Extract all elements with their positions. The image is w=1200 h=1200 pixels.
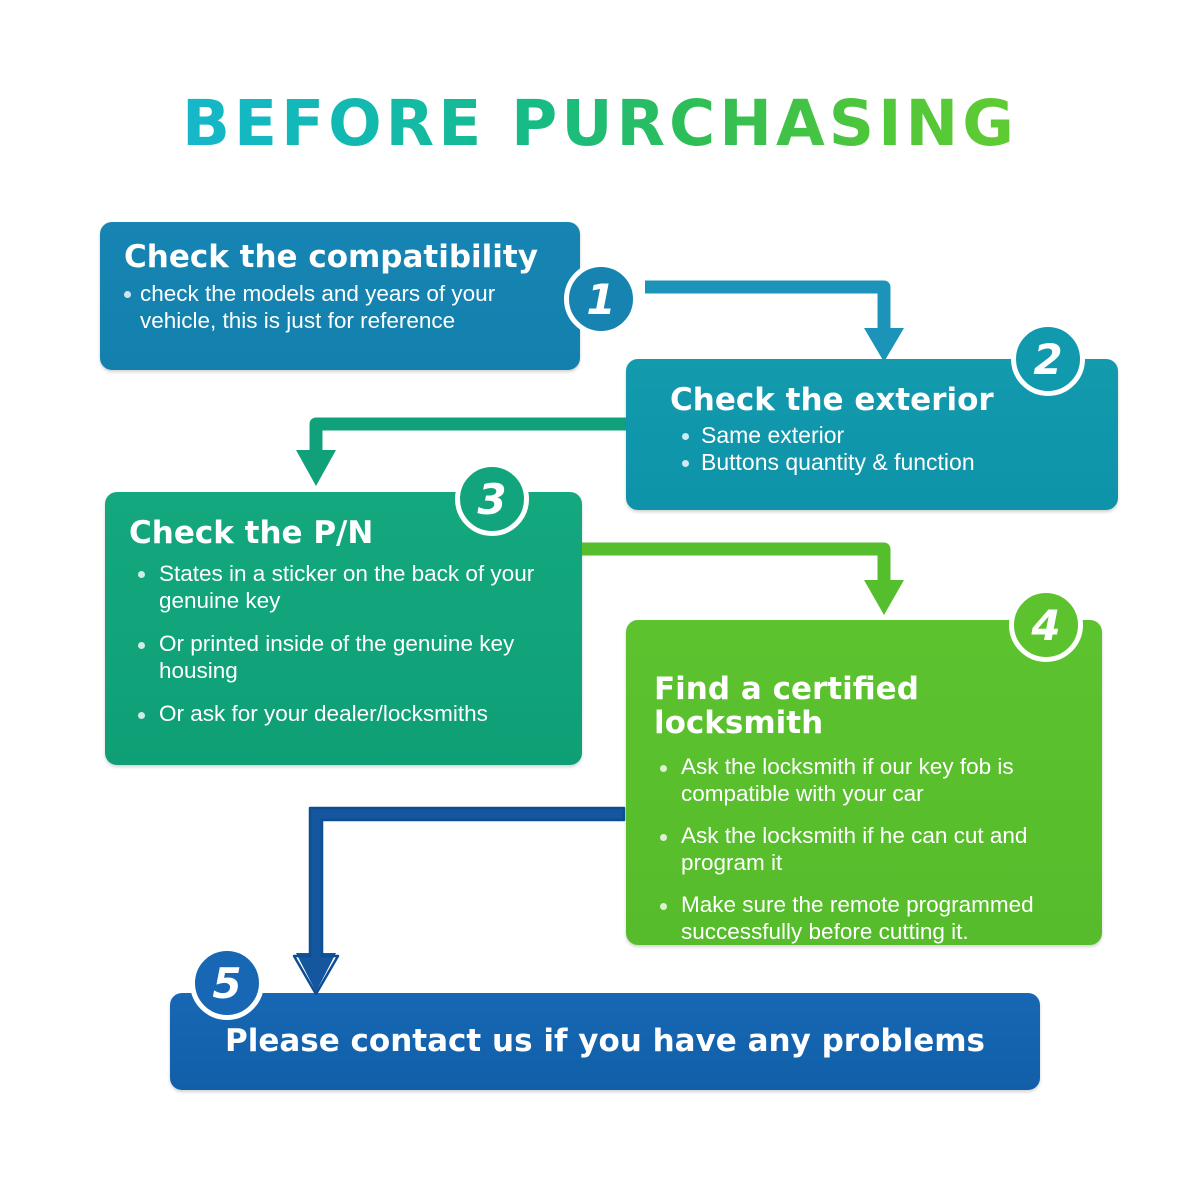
step-4-bullets: Ask the locksmith if our key fob is comp…	[654, 754, 1088, 945]
list-item: States in a sticker on the back of your …	[138, 561, 564, 614]
step-2-bullets: Same exterior Buttons quantity & functio…	[670, 422, 1100, 476]
list-item: Ask the locksmith if he can cut and prog…	[660, 823, 1088, 876]
list-item: check the models and years of your vehic…	[124, 281, 558, 334]
bullet-text: Ask the locksmith if he can cut and prog…	[681, 823, 1027, 875]
bullet-dot-icon	[138, 571, 145, 578]
step-number-badge-3: 3	[455, 462, 529, 536]
bullet-dot-icon	[138, 712, 145, 719]
bullet-dot-icon	[682, 433, 689, 440]
arrow-step1-to-step2	[645, 287, 904, 362]
bullet-text: Or ask for your dealer/locksmiths	[159, 701, 488, 726]
step-box-5[interactable]: Please contact us if you have any proble…	[170, 993, 1040, 1090]
list-item: Or printed inside of the genuine key hou…	[138, 631, 564, 684]
bullet-dot-icon	[660, 834, 667, 841]
step-5-heading: Please contact us if you have any proble…	[225, 1024, 985, 1058]
list-item: Ask the locksmith if our key fob is comp…	[660, 754, 1088, 807]
step-1-heading: Check the compatibility	[124, 240, 558, 274]
bullet-dot-icon	[124, 291, 131, 298]
step-number-badge-2: 2	[1011, 322, 1085, 396]
page-title: BEFORE PURCHASING	[0, 92, 1200, 155]
bullet-text: States in a sticker on the back of your …	[159, 561, 534, 613]
bullet-dot-icon	[682, 460, 689, 467]
step-box-3[interactable]: Check the P/N States in a sticker on the…	[105, 492, 582, 765]
step-box-1[interactable]: Check the compatibility check the models…	[100, 222, 580, 370]
step-1-bullets: check the models and years of your vehic…	[124, 281, 558, 334]
arrow-step3-to-step4	[582, 549, 904, 615]
step-box-4[interactable]: Find a certified locksmith Ask the locks…	[626, 620, 1102, 945]
step-4-heading: Find a certified locksmith	[654, 672, 1088, 740]
list-item: Or ask for your dealer/locksmiths	[138, 701, 564, 728]
arrow-step4-to-step5	[294, 808, 624, 994]
bullet-text: Ask the locksmith if our key fob is comp…	[681, 754, 1014, 806]
list-item: Buttons quantity & function	[682, 449, 1100, 476]
step-number-badge-1: 1	[564, 262, 638, 336]
list-item: Same exterior	[682, 422, 1100, 449]
bullet-dot-icon	[660, 765, 667, 772]
bullet-text: Make sure the remote programmed successf…	[681, 892, 1034, 944]
step-3-bullets: States in a sticker on the back of your …	[129, 561, 564, 728]
step-number-badge-4: 4	[1009, 588, 1083, 662]
list-item: Make sure the remote programmed successf…	[660, 892, 1088, 945]
bullet-text: Buttons quantity & function	[701, 449, 975, 475]
bullet-text: Same exterior	[701, 422, 844, 448]
infographic-canvas: BEFORE PURCHASING Check the compatibilit…	[0, 0, 1200, 1200]
step-number-badge-5: 5	[190, 946, 264, 1020]
bullet-dot-icon	[660, 903, 667, 910]
bullet-text: check the models and years of your vehic…	[140, 281, 495, 333]
bullet-text: Or printed inside of the genuine key hou…	[159, 631, 514, 683]
bullet-dot-icon	[138, 642, 145, 649]
